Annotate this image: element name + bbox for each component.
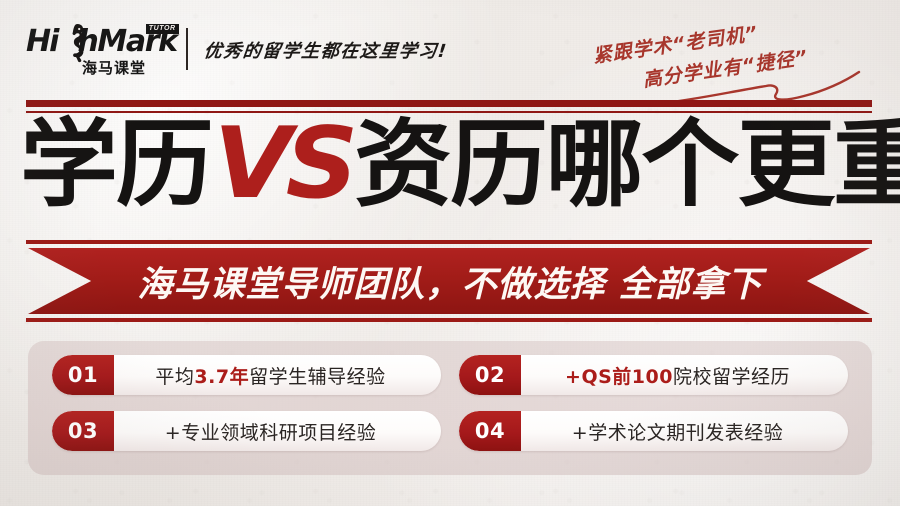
header-divider [186,28,188,70]
feature-label-prefix: +专业领域科研项目经验 [165,418,376,445]
headline-part-2: 资历哪个更重要 [354,110,900,220]
feature-number-badge: 02 [459,355,521,395]
feature-label-highlight: +QS前100 [565,362,673,389]
logo-tutor-badge: TUTOR [146,24,179,34]
header-slogan: 优秀的留学生都在这里学习! [203,37,449,63]
feature-label: 平均3.7年留学生辅导经验 [114,355,441,395]
headline-part-1: 学历 [20,110,212,220]
ribbon-rule-bottom [26,318,872,322]
feature-number-badge: 01 [52,355,114,395]
header-rule-thick [26,100,872,107]
ribbon-rule-top [26,240,872,244]
corner-note: 紧跟学术“老司机” 高分学业有“捷径” [592,20,892,86]
feature-number-badge: 04 [459,411,521,451]
feature-label-suffix: 院校留学经历 [673,362,790,389]
logo-wordmark: HighMark TUTOR [26,26,177,58]
feature-label: +QS前100院校留学经历 [521,355,848,395]
feature-label: +专业领域科研项目经验 [114,411,441,451]
logo-chinese-name: 海马课堂 [82,57,146,78]
header: HighMark TUTOR 海马课堂 优秀的留学生都在这里学习! 紧跟学术“老… [0,0,900,96]
brand-logo: HighMark TUTOR 海马课堂 [26,26,174,76]
feature-item-04[interactable]: 04 +学术论文期刊发表经验 [459,411,848,451]
feature-label-prefix: +学术论文期刊发表经验 [572,418,783,445]
feature-item-01[interactable]: 01 平均3.7年留学生辅导经验 [52,355,441,395]
ribbon-banner: 海马课堂导师团队，不做选择 全部拿下 [0,232,900,332]
feature-list: 01 平均3.7年留学生辅导经验 02 +QS前100院校留学经历 03 +专业… [28,341,872,475]
ribbon-text: 海马课堂导师团队，不做选择 全部拿下 [0,248,900,314]
logo-wordmark-prefix: Hi [26,24,57,59]
feature-item-02[interactable]: 02 +QS前100院校留学经历 [459,355,848,395]
feature-label-suffix: 留学生辅导经验 [249,362,386,389]
feature-number-badge: 03 [52,411,114,451]
feature-label: +学术论文期刊发表经验 [521,411,848,451]
page-title: 学历VS资历哪个更重要 [20,112,900,216]
feature-label-prefix: 平均 [155,362,194,389]
poster-canvas: HighMark TUTOR 海马课堂 优秀的留学生都在这里学习! 紧跟学术“老… [0,0,900,506]
feature-label-highlight: 3.7年 [194,362,249,389]
headline-vs: VS [212,107,355,221]
feature-item-03[interactable]: 03 +专业领域科研项目经验 [52,411,441,451]
